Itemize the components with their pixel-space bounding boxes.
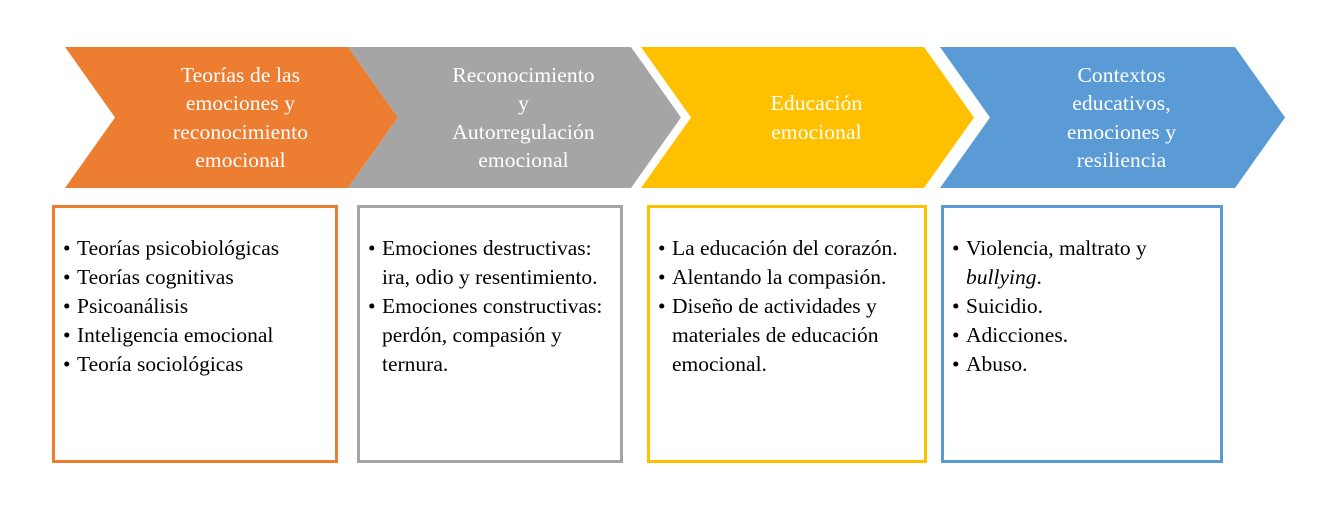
list-item: Emociones destructivas: ira, odio y rese…: [368, 234, 614, 292]
list-item: Adicciones.: [952, 321, 1214, 350]
list-item: La educación del corazón.: [658, 234, 918, 263]
stage-1-bullet-list: Teorías psicobiológicasTeorías cognitiva…: [55, 208, 335, 379]
stage-2-bullet-list: Emociones destructivas: ira, odio y rese…: [360, 208, 620, 379]
list-item: Inteligencia emocional: [63, 321, 329, 350]
list-item: Psicoanálisis: [63, 292, 329, 321]
process-diagram: Teorías de las emociones y reconocimient…: [0, 0, 1335, 518]
list-item: Teorías psicobiológicas: [63, 234, 329, 263]
stage-content-box-1: Teorías psicobiológicasTeorías cognitiva…: [52, 205, 338, 463]
list-item: Emociones constructivas: perdón, compasi…: [368, 292, 614, 379]
list-item: Alentando la compasión.: [658, 263, 918, 292]
list-item: Diseño de actividades y materiales de ed…: [658, 292, 918, 379]
stage-content-row: Teorías psicobiológicasTeorías cognitiva…: [0, 0, 1335, 518]
stage-3-bullet-list: La educación del corazón.Alentando la co…: [650, 208, 924, 379]
list-item: Suicidio.: [952, 292, 1214, 321]
list-item: Teoría sociológicas: [63, 350, 329, 379]
list-item: Violencia, maltrato y bullying.: [952, 234, 1214, 292]
emphasised-term: bullying: [966, 265, 1036, 289]
stage-content-box-4: Violencia, maltrato y bullying.Suicidio.…: [941, 205, 1223, 463]
stage-4-bullet-list: Violencia, maltrato y bullying.Suicidio.…: [944, 208, 1220, 379]
stage-content-box-2: Emociones destructivas: ira, odio y rese…: [357, 205, 623, 463]
stage-content-box-3: La educación del corazón.Alentando la co…: [647, 205, 927, 463]
list-item: Abuso.: [952, 350, 1214, 379]
list-item: Teorías cognitivas: [63, 263, 329, 292]
